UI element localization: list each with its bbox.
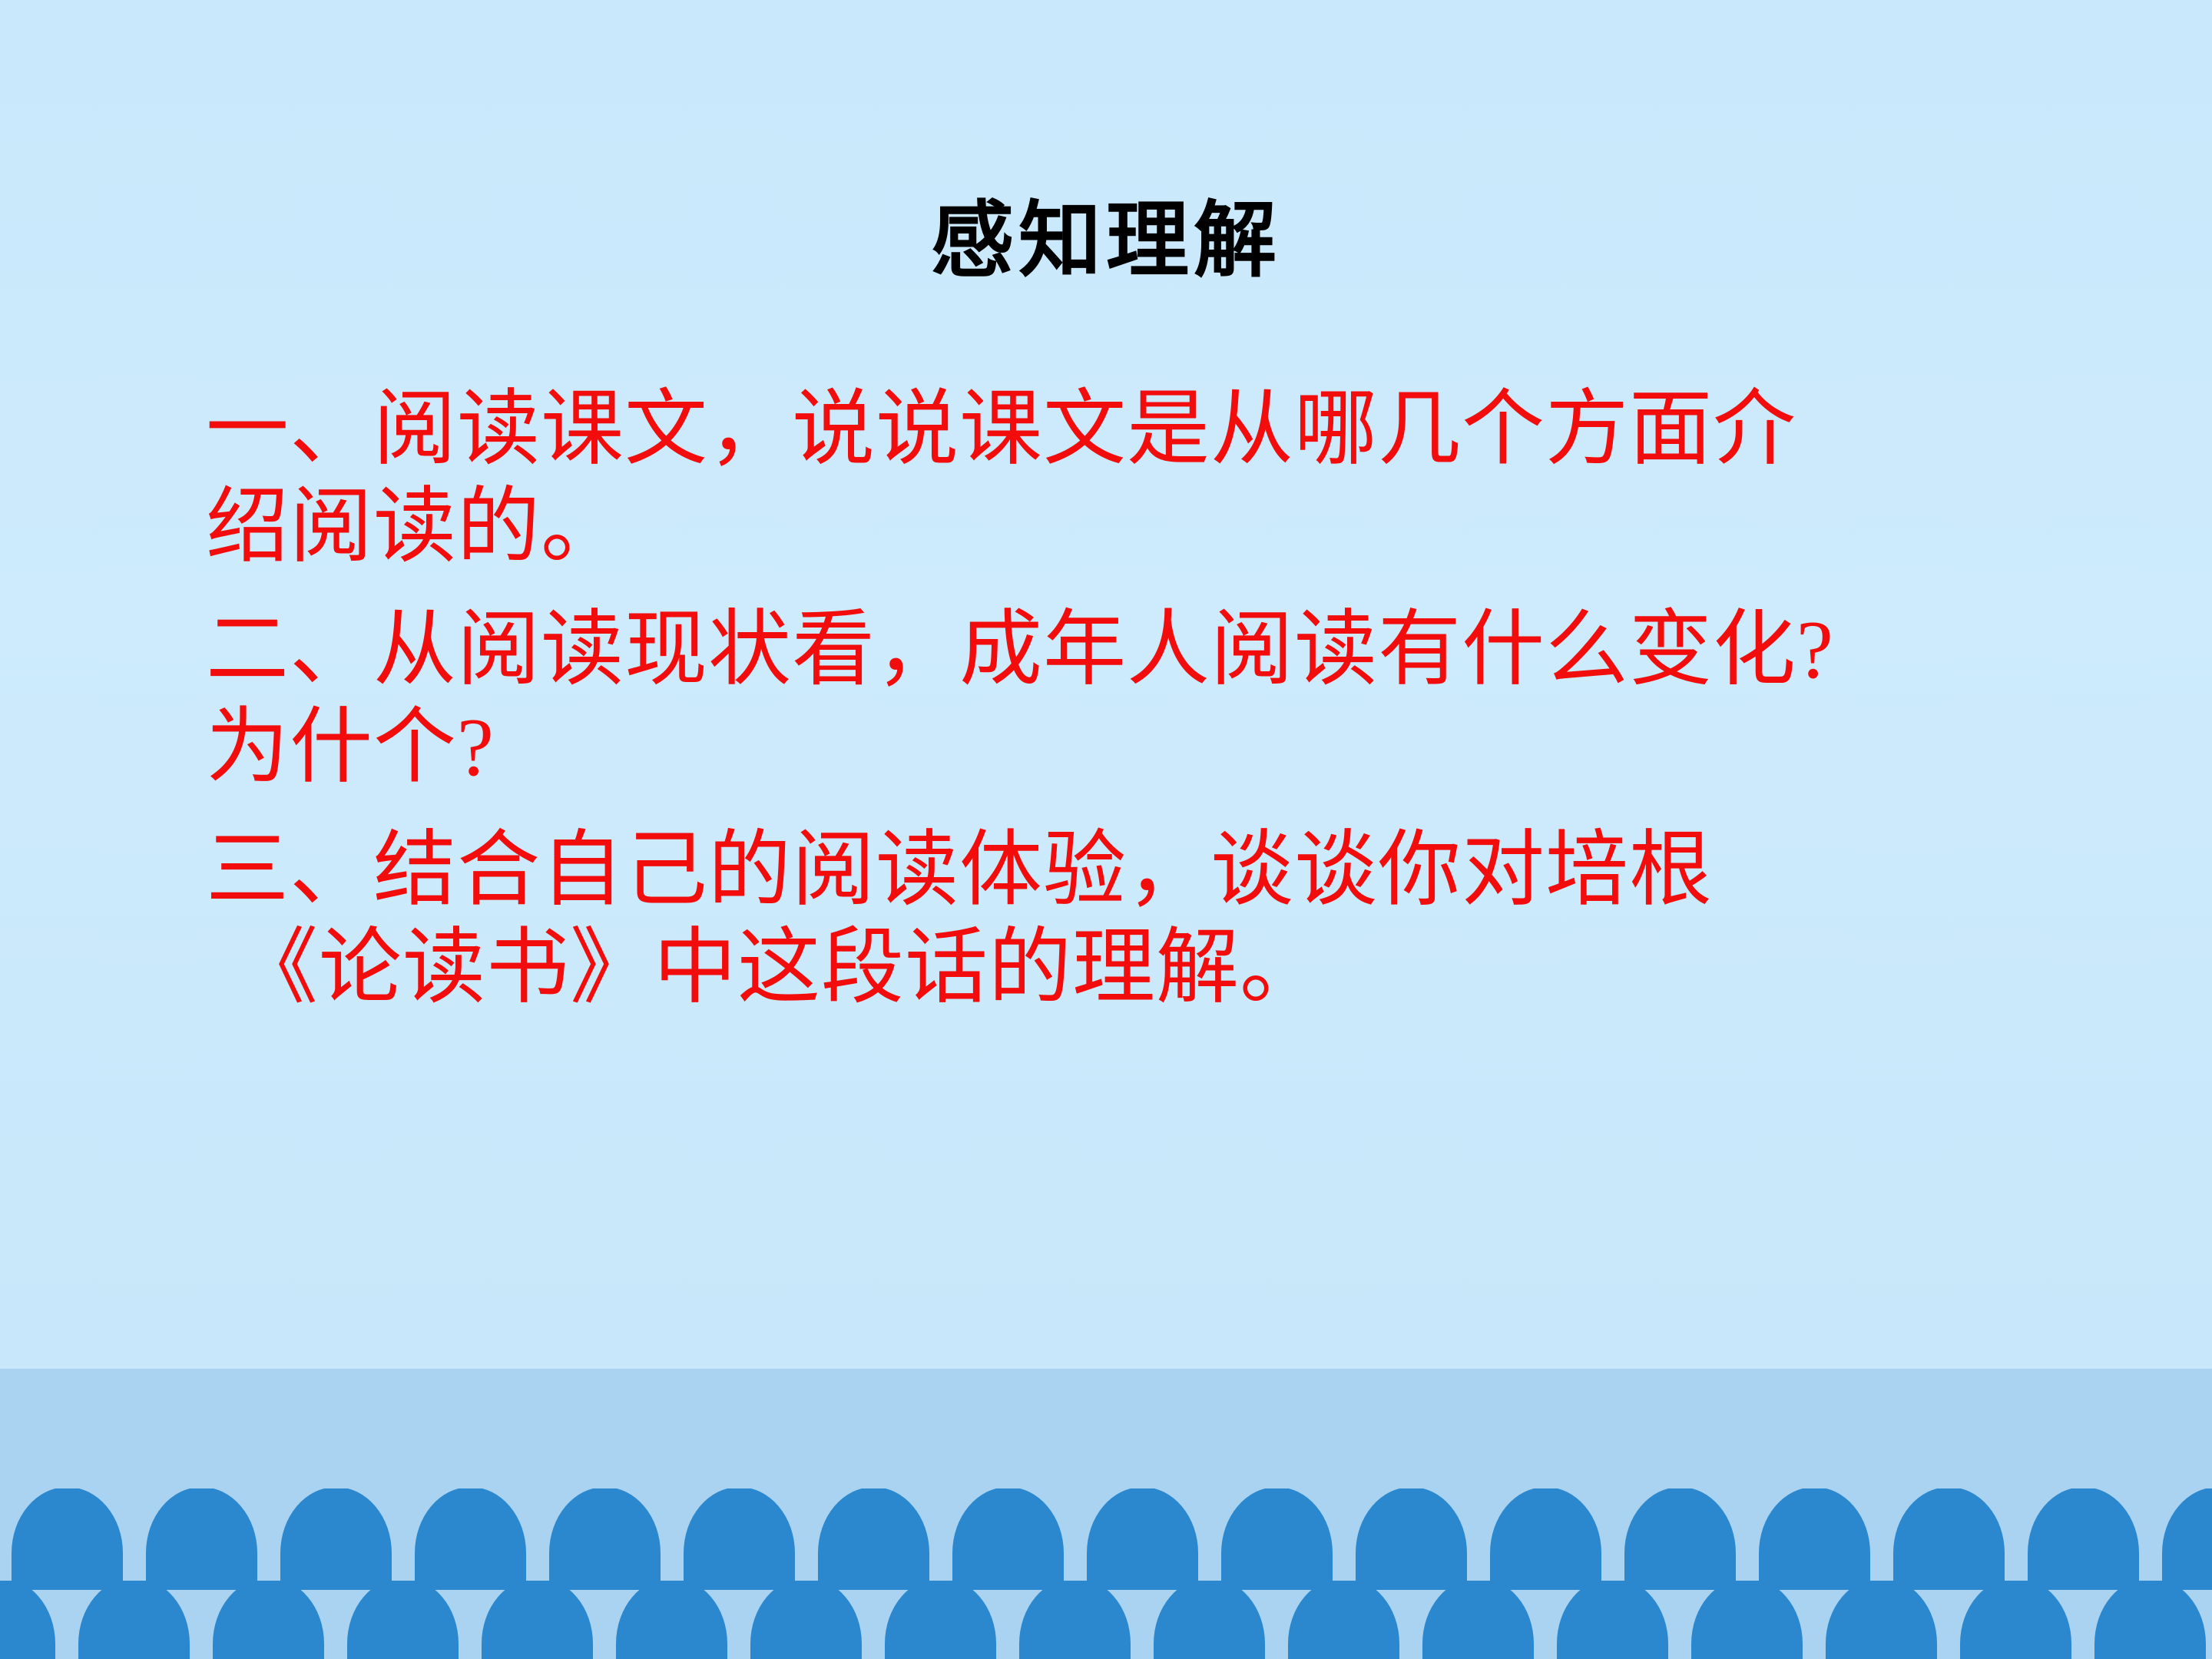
scallop-arches-upper <box>0 1488 2212 1590</box>
scallop-arches-lower <box>0 1581 2212 1659</box>
question-2-line-1: 二、从阅读现状看，成年人阅读有什么变化? <box>206 601 2203 699</box>
question-item-1: 一、阅读课文，说说课文是从哪几个方面介 绍阅读的。 <box>206 381 2203 577</box>
page-title: 感知理解 <box>0 194 2212 290</box>
question-list: 一、阅读课文，说说课文是从哪几个方面介 绍阅读的。 二、从阅读现状看，成年人阅读… <box>206 381 2203 1042</box>
scallop-row-upper <box>0 1488 2212 1590</box>
question-item-2: 二、从阅读现状看，成年人阅读有什么变化? 为什个? <box>206 601 2203 797</box>
question-3-line-2: 《论读书》中这段话的理解。 <box>206 919 2203 1017</box>
scallop-row-lower <box>0 1581 2212 1659</box>
question-1-line-1: 一、阅读课文，说说课文是从哪几个方面介 <box>206 381 2203 478</box>
question-1-line-2: 绍阅读的。 <box>206 478 2203 576</box>
question-3-line-1: 三、结合自己的阅读体验，谈谈你对培根 <box>206 822 2203 919</box>
question-2-line-2: 为什个? <box>206 699 2203 796</box>
slide-canvas: 感知理解 一、阅读课文，说说课文是从哪几个方面介 绍阅读的。 二、从阅读现状看，… <box>0 0 2212 1659</box>
question-item-3: 三、结合自己的阅读体验，谈谈你对培根 《论读书》中这段话的理解。 <box>206 822 2203 1018</box>
